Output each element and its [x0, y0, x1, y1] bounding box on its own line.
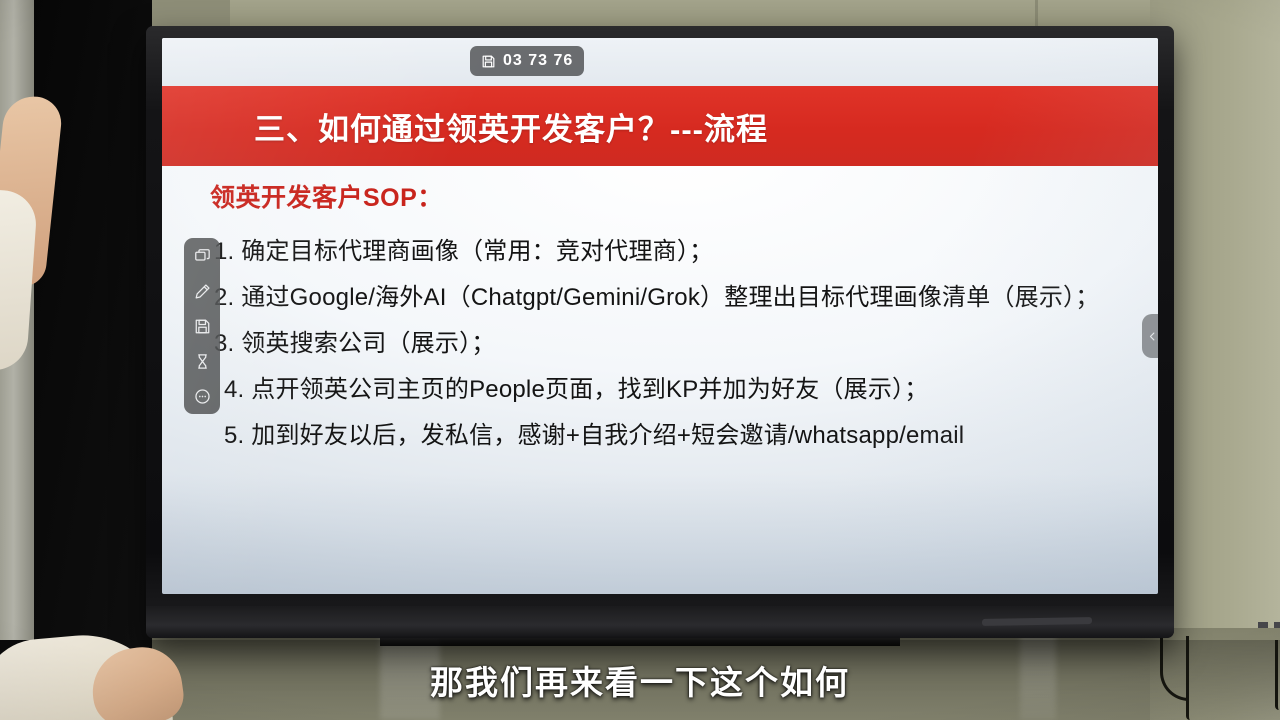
- screen-glare-bottom: [162, 474, 1158, 594]
- list-item: 4. 点开领英公司主页的People页面，找到KP并加为好友（展示）；: [214, 367, 1140, 413]
- list-item: 2. 通过Google/海外AI（Chatgpt/Gemini/Grok）整理出…: [214, 275, 1140, 321]
- list-item: 5. 加到好友以后，发私信，感谢+自我介绍+短会邀请/whatsapp/emai…: [214, 413, 1140, 459]
- chevron-left-icon[interactable]: [1142, 314, 1158, 358]
- list-item: 3. 领英搜索公司（展示）；: [214, 321, 1140, 367]
- page-counter-value: 03 73 76: [503, 52, 573, 70]
- pencil-icon[interactable]: [190, 279, 214, 303]
- slide-top-band: [162, 38, 1158, 86]
- tv-screen[interactable]: 三、如何通过领英开发客户？---流程 领英开发客户SOP： 1. 确定目标代理商…: [162, 38, 1158, 594]
- presentation-slide: 三、如何通过领英开发客户？---流程 领英开发客户SOP： 1. 确定目标代理商…: [162, 38, 1158, 594]
- save-icon[interactable]: [190, 314, 214, 338]
- tv-ports: [1258, 622, 1280, 628]
- more-dots-icon[interactable]: [190, 384, 214, 408]
- slide-section-heading: 领英开发客户SOP：: [210, 178, 443, 214]
- television-display: 三、如何通过领英开发客户？---流程 领英开发客户SOP： 1. 确定目标代理商…: [146, 26, 1174, 638]
- screenshot-stage: 三、如何通过领英开发客户？---流程 领英开发客户SOP： 1. 确定目标代理商…: [0, 0, 1280, 720]
- annotation-toolbar[interactable]: [184, 238, 220, 414]
- duplicate-windows-icon[interactable]: [190, 244, 214, 268]
- slide-title: 三、如何通过领英开发客户？---流程: [254, 104, 768, 149]
- page-counter-badge[interactable]: 03 73 76: [470, 46, 584, 76]
- subtitle-caption: 那我们再来看一下这个如何: [0, 656, 1280, 704]
- save-icon: [481, 54, 496, 69]
- hourglass-icon[interactable]: [190, 349, 214, 373]
- slide-bullet-list: 1. 确定目标代理商画像（常用：竞对代理商）； 2. 通过Google/海外AI…: [214, 230, 1140, 459]
- tv-stand-bar: [380, 636, 900, 646]
- slide-title-banner: 三、如何通过领英开发客户？---流程: [162, 86, 1158, 166]
- list-item: 1. 确定目标代理商画像（常用：竞对代理商）；: [214, 230, 1140, 275]
